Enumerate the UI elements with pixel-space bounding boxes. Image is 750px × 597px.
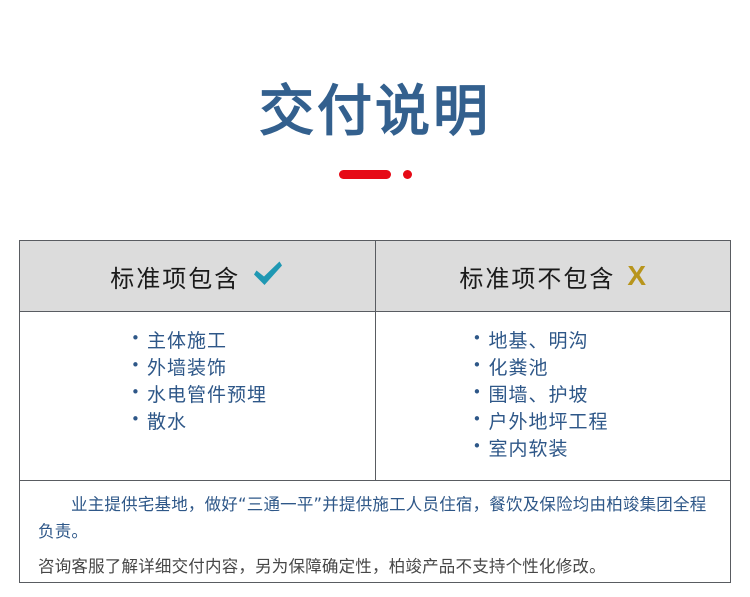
list-item: 外墙装饰 [131, 355, 375, 382]
list-item: 主体施工 [131, 328, 375, 355]
included-items-cell: 主体施工 外墙装饰 水电管件预埋 散水 [20, 312, 376, 480]
included-header-label: 标准项包含 [110, 259, 240, 294]
footnote-secondary: 咨询客服了解详细交付内容，另为保障确定性，柏竣产品不支持个性化修改。 [38, 554, 712, 581]
check-icon [252, 260, 284, 292]
x-icon: X [627, 262, 646, 290]
excluded-items-cell: 地基、明沟 化粪池 围墙、护坡 户外地坪工程 室内软装 [376, 312, 731, 480]
list-item: 室内软装 [473, 436, 731, 463]
excluded-header-label: 标准项不包含 [459, 259, 615, 294]
table-body-row: 主体施工 外墙装饰 水电管件预埋 散水 地基、明沟 化粪池 围墙、护坡 户外地坪… [20, 312, 730, 481]
list-item: 水电管件预埋 [131, 382, 375, 409]
table-footnote: 业主提供宅基地，做好“三通一平”并提供施工人员住宿，餐饮及保险均由柏竣集团全程负… [20, 481, 730, 582]
list-item: 化粪池 [473, 355, 731, 382]
title-divider [0, 168, 750, 180]
table-header-excluded: 标准项不包含 X [376, 241, 731, 311]
excluded-items-list: 地基、明沟 化粪池 围墙、护坡 户外地坪工程 室内软装 [376, 328, 731, 463]
divider-dot [403, 170, 412, 179]
included-items-list: 主体施工 外墙装饰 水电管件预埋 散水 [20, 328, 375, 436]
table-header-included: 标准项包含 [20, 241, 376, 311]
list-item: 户外地坪工程 [473, 409, 731, 436]
table-header-row: 标准项包含 标准项不包含 X [20, 241, 730, 312]
divider-bar [339, 170, 391, 179]
list-item: 散水 [131, 409, 375, 436]
list-item: 地基、明沟 [473, 328, 731, 355]
page-header: 交付说明 [0, 0, 750, 180]
delivery-spec-table: 标准项包含 标准项不包含 X 主体施工 外墙装饰 水电管件预埋 散水 地基、明沟 [19, 240, 731, 583]
list-item: 围墙、护坡 [473, 382, 731, 409]
footnote-primary: 业主提供宅基地，做好“三通一平”并提供施工人员住宿，餐饮及保险均由柏竣集团全程负… [38, 492, 712, 545]
page-title: 交付说明 [0, 84, 750, 139]
